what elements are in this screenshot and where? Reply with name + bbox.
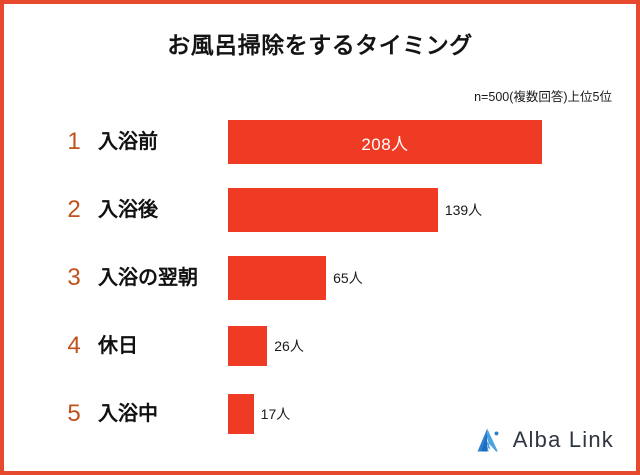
- rank-number: 1: [64, 130, 84, 154]
- rank-number: 3: [64, 266, 84, 290]
- infographic-card: お風呂掃除をするタイミング n=500(複数回答)上位5位 1 入浴前 208人…: [0, 0, 640, 475]
- rank-number: 4: [64, 334, 84, 358]
- bar-fill: [228, 256, 326, 300]
- rank-number: 5: [64, 402, 84, 426]
- category-label: 入浴前: [98, 132, 158, 152]
- bar-row: 2 入浴後 139人: [4, 176, 636, 244]
- bar-track: 65人: [228, 256, 363, 300]
- bar-track: 17人: [228, 394, 290, 434]
- sample-size-note: n=500(複数回答)上位5位: [474, 86, 612, 105]
- bar-chart: 1 入浴前 208人 2 入浴後 139人 3 入浴の翌朝 65人: [4, 108, 636, 448]
- bar-track: 208人: [228, 120, 542, 164]
- brand-name: Alba Link: [513, 429, 614, 451]
- bar-fill: 208人: [228, 120, 542, 164]
- bar-value-label: 208人: [361, 130, 408, 155]
- bar-value-label: 17人: [261, 404, 291, 424]
- bar-row: 3 入浴の翌朝 65人: [4, 244, 636, 312]
- bar-row: 4 休日 26人: [4, 312, 636, 380]
- bar-value-label: 26人: [274, 336, 304, 356]
- category-label: 入浴の翌朝: [98, 268, 198, 288]
- bar-value-label: 139人: [445, 200, 482, 220]
- bar-value-label: 65人: [333, 268, 363, 288]
- bar-fill: [228, 326, 267, 366]
- bar-row: 1 入浴前 208人: [4, 108, 636, 176]
- category-label: 入浴中: [98, 404, 158, 424]
- bar-fill: [228, 188, 438, 232]
- bar-fill: [228, 394, 254, 434]
- bar-track: 139人: [228, 188, 482, 232]
- page-title: お風呂掃除をするタイミング: [4, 26, 636, 60]
- rank-number: 2: [64, 198, 84, 222]
- category-label: 入浴後: [98, 200, 158, 220]
- alba-link-triangle-icon: [474, 425, 504, 455]
- bar-track: 26人: [228, 326, 304, 366]
- brand-logo: Alba Link: [474, 425, 614, 455]
- category-label: 休日: [98, 336, 138, 356]
